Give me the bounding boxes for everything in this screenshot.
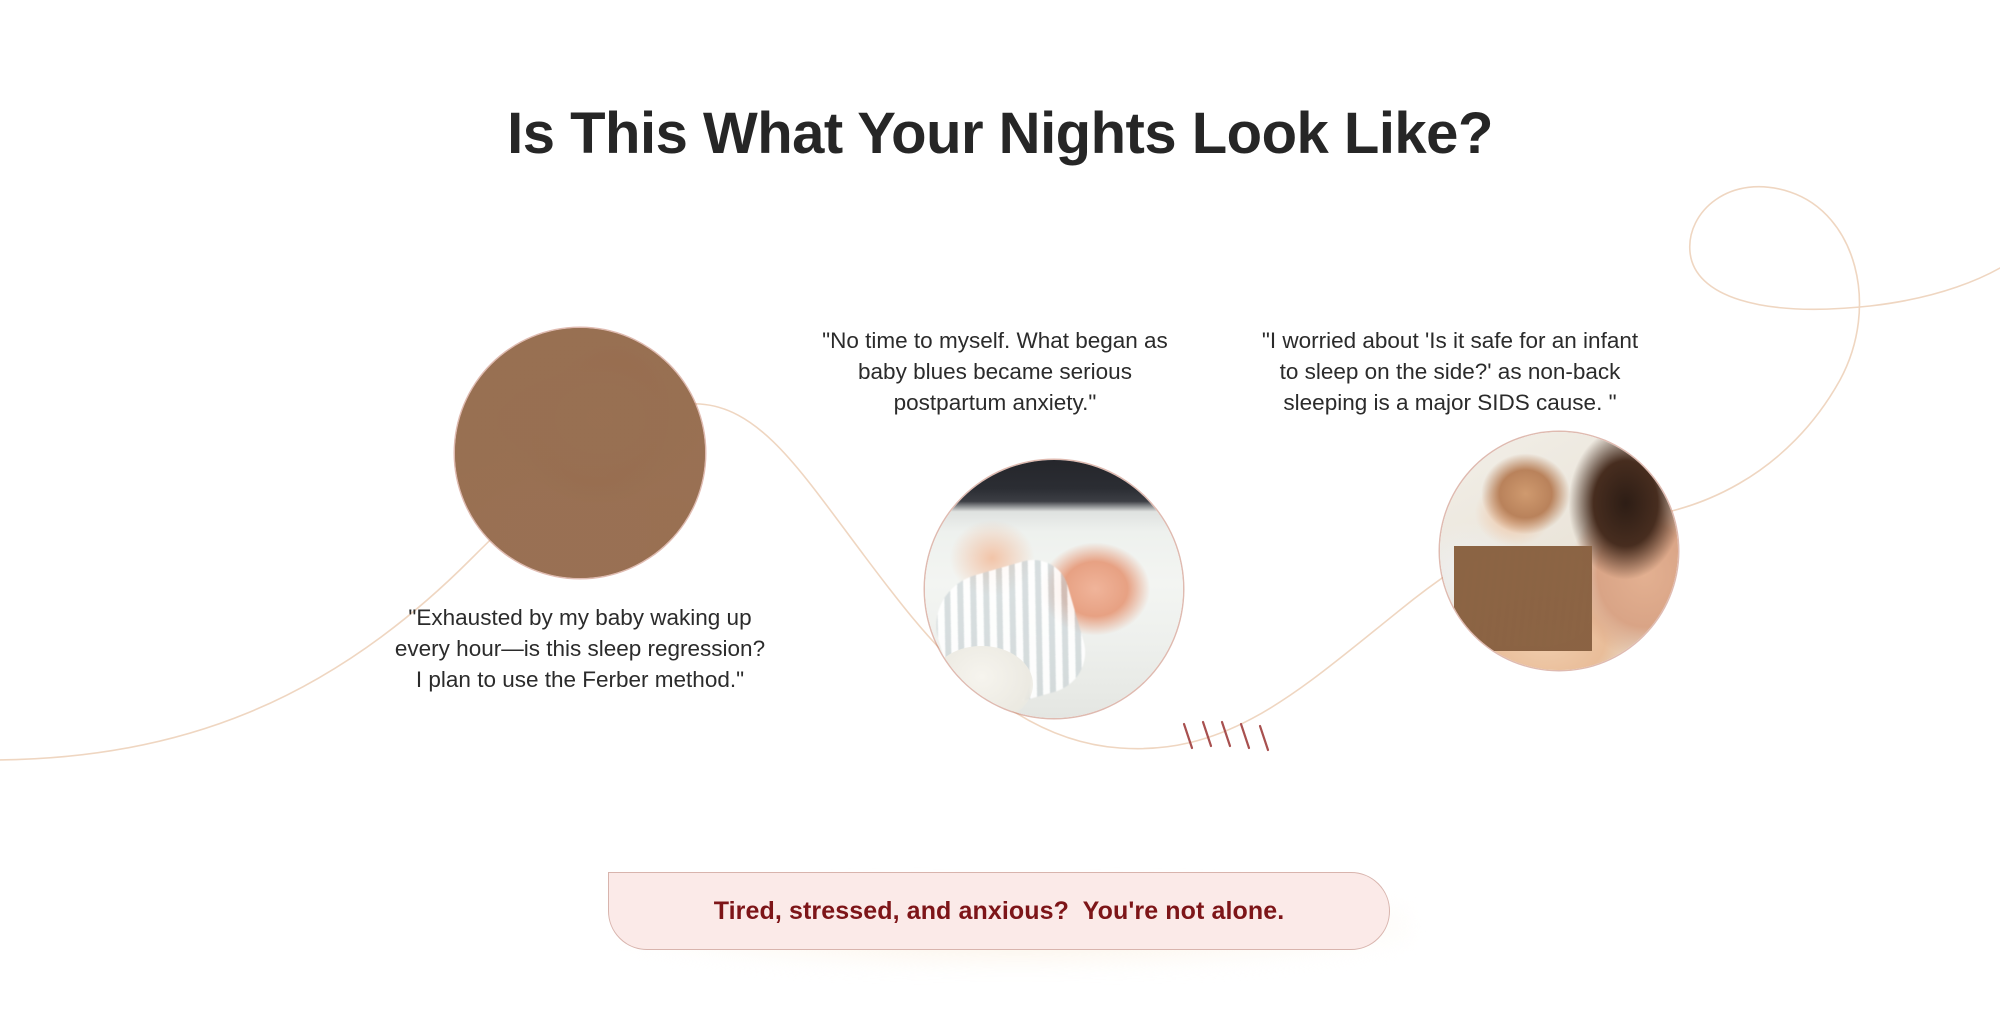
tick-marks-icon [1184,722,1268,750]
slide-canvas: Is This What Your Nights Look Like? "Exh… [0,0,2000,1032]
photo-image [1440,432,1678,670]
photo-image [925,460,1183,718]
testimonial-quote-no-time: "No time to myself. What began as baby b… [745,325,1245,418]
testimonial-photo-crying-baby [925,460,1183,718]
banner-text: Tired, stressed, and anxious? You're not… [714,897,1285,926]
photo-highlight-layer [930,646,1033,718]
testimonial-photo-sleeping-baby [455,328,705,578]
page-title: Is This What Your Nights Look Like? [0,100,2000,167]
testimonial-quote-exhausted: "Exhausted by my baby waking up every ho… [330,602,830,695]
reassurance-banner: Tired, stressed, and anxious? You're not… [608,872,1408,954]
photo-pattern-layer [1454,546,1592,651]
testimonial-quote-sids-worry: "I worried about 'Is it safe for an infa… [1200,325,1700,418]
testimonial-photo-swaddled-newborn [1440,432,1678,670]
banner-pill: Tired, stressed, and anxious? You're not… [608,872,1390,950]
photo-texture-layer [455,328,705,578]
photo-image [455,328,705,578]
